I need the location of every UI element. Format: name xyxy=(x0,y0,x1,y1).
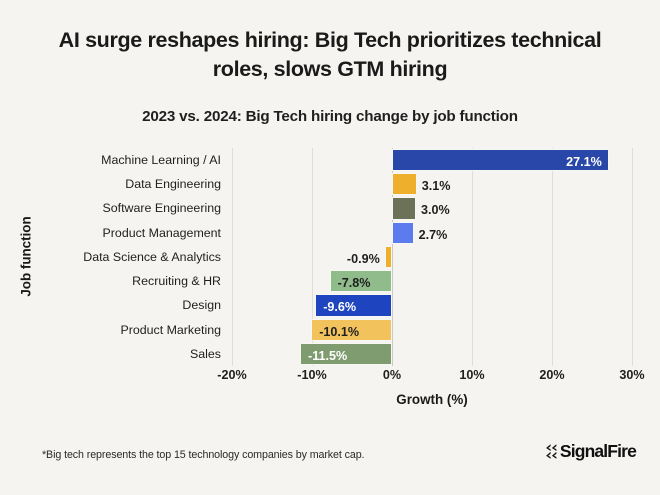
bar-row: Design-9.6% xyxy=(232,293,632,317)
bar[interactable]: 3.0% xyxy=(392,197,416,219)
category-label: Data Engineering xyxy=(125,172,221,196)
bar[interactable]: 3.1% xyxy=(392,173,417,195)
x-tick-label: -10% xyxy=(297,368,326,382)
bar-row: Software Engineering3.0% xyxy=(232,196,632,220)
brand-logo: SignalFire xyxy=(544,441,636,462)
x-tick-label: -20% xyxy=(217,368,246,382)
category-label: Machine Learning / AI xyxy=(101,148,221,172)
page-title: AI surge reshapes hiring: Big Tech prior… xyxy=(0,26,660,84)
gridline-30 xyxy=(632,148,633,366)
bar-row: Product Management2.7% xyxy=(232,221,632,245)
category-label: Product Management xyxy=(103,221,221,245)
x-tick-label: 10% xyxy=(459,368,484,382)
bar-value-label: 27.1% xyxy=(566,150,602,174)
infographic-canvas: AI surge reshapes hiring: Big Tech prior… xyxy=(0,0,660,495)
bar-value-label: 3.0% xyxy=(421,198,450,222)
category-label: Recruiting & HR xyxy=(132,269,221,293)
bar[interactable]: 27.1% xyxy=(392,149,609,171)
bar[interactable]: 2.7% xyxy=(392,222,414,244)
bar-value-label: 2.7% xyxy=(419,223,448,247)
bar-value-label: 3.1% xyxy=(422,174,451,198)
x-tick-label: 0% xyxy=(383,368,401,382)
category-label: Product Marketing xyxy=(120,318,221,342)
category-label: Data Science & Analytics xyxy=(83,245,221,269)
plot-area: Machine Learning / AI27.1%Data Engineeri… xyxy=(232,148,632,366)
bar[interactable]: -7.8% xyxy=(330,270,392,292)
bar-row: Machine Learning / AI27.1% xyxy=(232,148,632,172)
x-tick-label: 30% xyxy=(619,368,644,382)
category-label: Design xyxy=(182,293,221,317)
x-axis-title: Growth (%) xyxy=(232,392,632,407)
category-label: Sales xyxy=(190,342,221,366)
bar-row: Data Engineering3.1% xyxy=(232,172,632,196)
bar-row: Sales-11.5% xyxy=(232,342,632,366)
bar-row: Product Marketing-10.1% xyxy=(232,318,632,342)
bar[interactable]: -10.1% xyxy=(311,319,392,341)
bar-row: Data Science & Analytics-0.9% xyxy=(232,245,632,269)
x-axis-ticks: -20%-10%0%10%20%30% xyxy=(232,368,632,388)
x-tick-label: 20% xyxy=(539,368,564,382)
bar[interactable]: -9.6% xyxy=(315,294,392,316)
bar-value-label: -9.6% xyxy=(323,295,356,319)
signalfire-logo-mark-icon xyxy=(544,443,559,460)
category-label: Software Engineering xyxy=(103,196,221,220)
footnote: *Big tech represents the top 15 technolo… xyxy=(42,449,364,461)
bar-chart: Machine Learning / AI27.1%Data Engineeri… xyxy=(0,140,660,412)
brand-name: SignalFire xyxy=(560,441,636,462)
bar-value-label: -7.8% xyxy=(338,271,371,295)
title-block: AI surge reshapes hiring: Big Tech prior… xyxy=(0,26,660,84)
bar-value-label: -0.9% xyxy=(347,247,380,271)
bar[interactable]: -11.5% xyxy=(300,343,392,365)
bar-row: Recruiting & HR-7.8% xyxy=(232,269,632,293)
bar-value-label: -11.5% xyxy=(308,344,347,368)
bar-value-label: -10.1% xyxy=(319,320,359,344)
bar[interactable]: -0.9% xyxy=(385,246,392,268)
chart-subtitle: 2023 vs. 2024: Big Tech hiring change by… xyxy=(0,108,660,125)
